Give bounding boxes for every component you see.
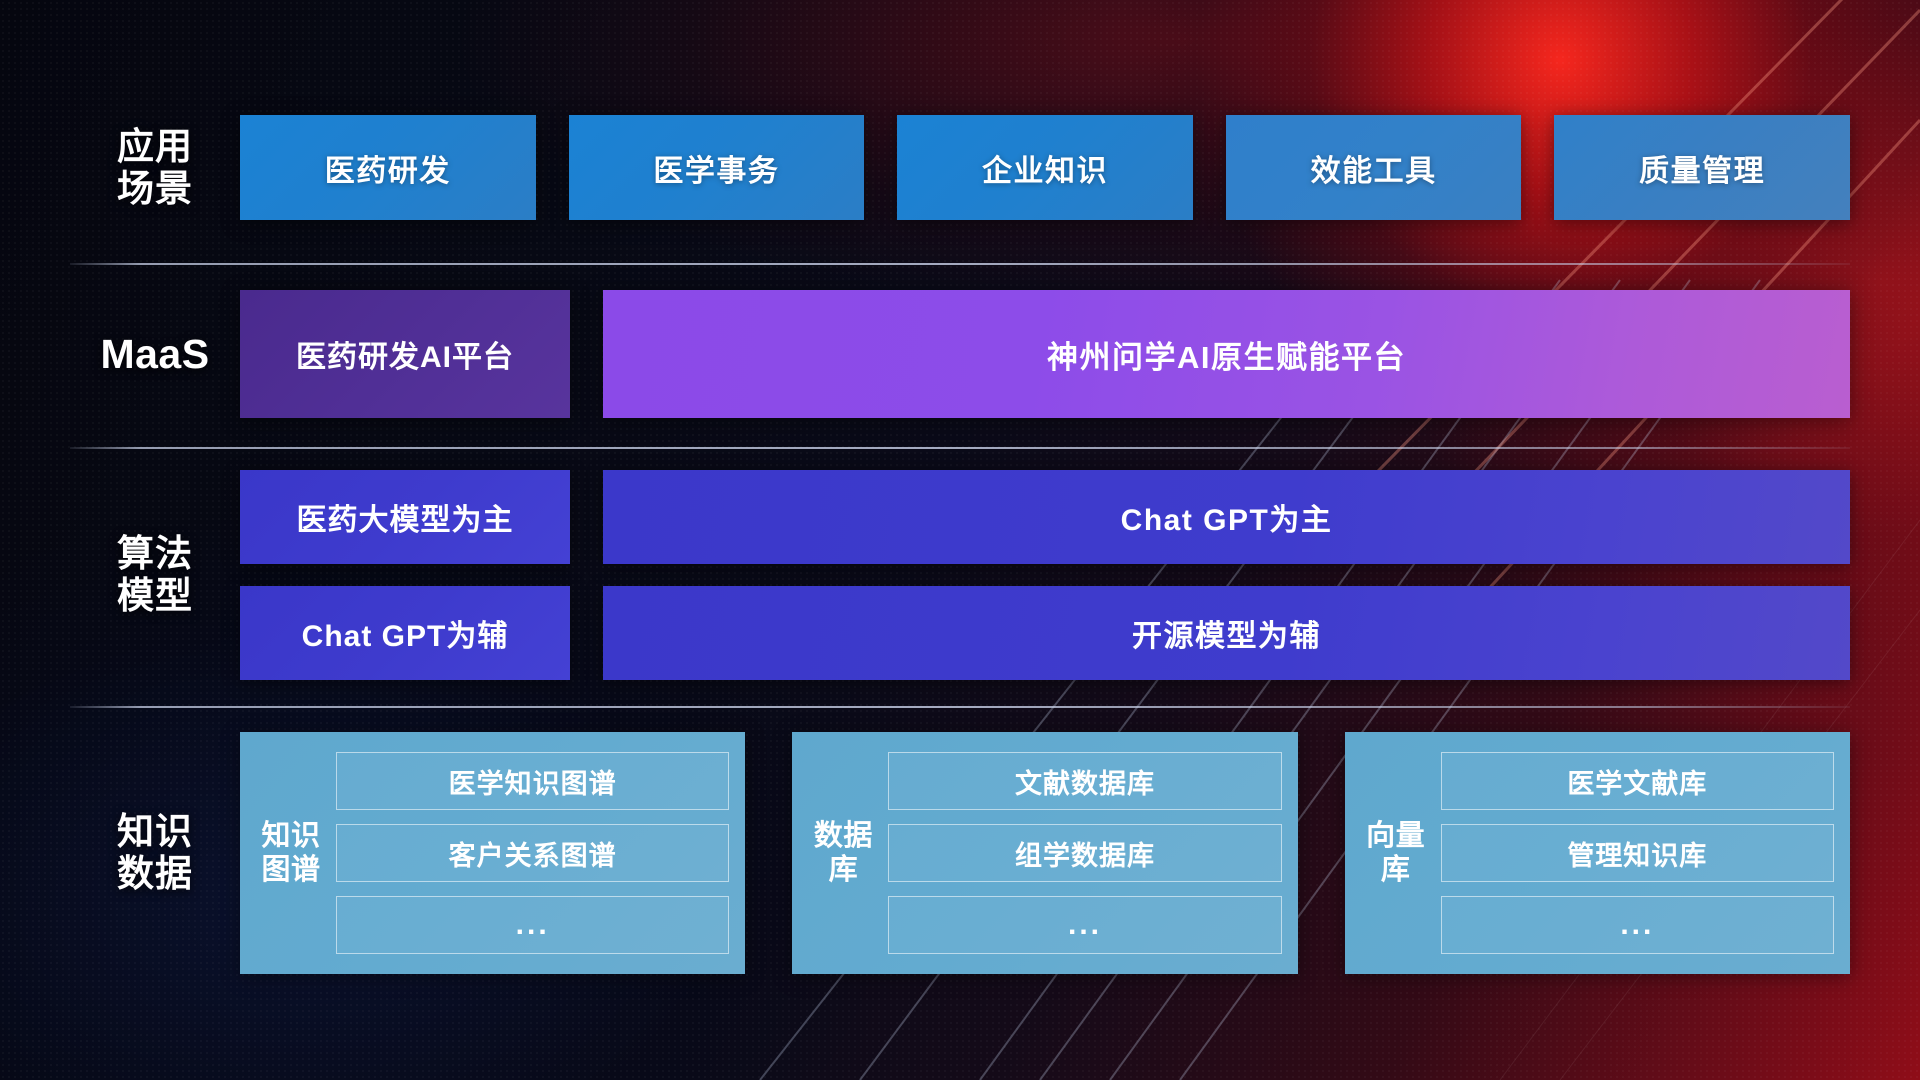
knowledge-panel-title-knowledge-graph: 知识图谱 bbox=[256, 819, 326, 887]
diagram-canvas: 应用 场景 医药研发 医学事务 企业知识 效能工具 质量管理 MaaS 医药研发… bbox=[0, 0, 1920, 1080]
algorithm-bar-stack: 医药大模型为主 Chat GPT为主 Chat GPT为辅 开源模型为辅 bbox=[240, 470, 1850, 680]
algo-block-chatgpt-primary[interactable]: Chat GPT为主 bbox=[603, 470, 1850, 564]
row-knowledge-data: 知识 数据 知识图谱 医学知识图谱 客户关系图谱 ... 数据库 bbox=[70, 732, 1850, 974]
app-tile-efficiency-tools[interactable]: 效能工具 bbox=[1226, 115, 1522, 220]
divider-application-maas bbox=[70, 263, 1850, 265]
row-label-application-line1: 应用 bbox=[70, 126, 240, 168]
row-label-algorithm-line2: 模型 bbox=[70, 575, 240, 617]
knowledge-panel-title-vector-store: 向量库 bbox=[1361, 819, 1431, 887]
knowledge-item-more-knowledge-graph[interactable]: ... bbox=[336, 896, 729, 954]
algo-block-pharma-llm-primary[interactable]: 医药大模型为主 bbox=[240, 470, 570, 564]
row-label-algorithm-line1: 算法 bbox=[70, 533, 240, 575]
maas-block-shenzhou-wenxue-platform[interactable]: 神州问学AI原生赋能平台 bbox=[603, 290, 1850, 418]
knowledge-item-literature-database[interactable]: 文献数据库 bbox=[888, 752, 1281, 810]
row-label-maas: MaaS bbox=[70, 331, 240, 377]
divider-maas-algorithm bbox=[70, 447, 1850, 449]
maas-block-pharma-ai-platform[interactable]: 医药研发AI平台 bbox=[240, 290, 570, 418]
knowledge-item-more-vector-store[interactable]: ... bbox=[1441, 896, 1834, 954]
app-tile-pharma-rnd[interactable]: 医药研发 bbox=[240, 115, 536, 220]
application-tile-list: 医药研发 医学事务 企业知识 效能工具 质量管理 bbox=[240, 115, 1850, 220]
row-label-knowledge: 知识 数据 bbox=[70, 811, 240, 895]
knowledge-panel-knowledge-graph[interactable]: 知识图谱 医学知识图谱 客户关系图谱 ... bbox=[240, 732, 745, 974]
knowledge-item-medical-knowledge-graph[interactable]: 医学知识图谱 bbox=[336, 752, 729, 810]
row-algorithm-models: 算法 模型 医药大模型为主 Chat GPT为主 Chat GPT为辅 开源模型… bbox=[70, 470, 1850, 680]
knowledge-panel-title-database: 数据库 bbox=[808, 819, 878, 887]
row-label-knowledge-line1: 知识 bbox=[70, 811, 240, 853]
knowledge-item-more-database[interactable]: ... bbox=[888, 896, 1281, 954]
knowledge-panel-vector-store[interactable]: 向量库 医学文献库 管理知识库 ... bbox=[1345, 732, 1850, 974]
app-tile-enterprise-knowledge[interactable]: 企业知识 bbox=[897, 115, 1193, 220]
row-application-scenarios: 应用 场景 医药研发 医学事务 企业知识 效能工具 质量管理 bbox=[70, 115, 1850, 220]
app-tile-medical-affairs[interactable]: 医学事务 bbox=[569, 115, 865, 220]
algo-block-opensource-secondary[interactable]: 开源模型为辅 bbox=[603, 586, 1850, 680]
knowledge-item-management-knowledge-store[interactable]: 管理知识库 bbox=[1441, 824, 1834, 882]
row-label-algorithm: 算法 模型 bbox=[70, 533, 240, 617]
knowledge-item-omics-database[interactable]: 组学数据库 bbox=[888, 824, 1281, 882]
app-tile-quality-management[interactable]: 质量管理 bbox=[1554, 115, 1850, 220]
divider-algorithm-knowledge bbox=[70, 706, 1850, 708]
algo-block-chatgpt-secondary[interactable]: Chat GPT为辅 bbox=[240, 586, 570, 680]
algorithm-row-secondary: Chat GPT为辅 开源模型为辅 bbox=[240, 586, 1850, 680]
knowledge-item-medical-literature-store[interactable]: 医学文献库 bbox=[1441, 752, 1834, 810]
row-label-knowledge-line2: 数据 bbox=[70, 853, 240, 895]
knowledge-item-customer-relation-graph[interactable]: 客户关系图谱 bbox=[336, 824, 729, 882]
knowledge-panel-database[interactable]: 数据库 文献数据库 组学数据库 ... bbox=[792, 732, 1297, 974]
row-label-application: 应用 场景 bbox=[70, 126, 240, 210]
row-label-application-line2: 场景 bbox=[70, 168, 240, 210]
knowledge-panel-list: 知识图谱 医学知识图谱 客户关系图谱 ... 数据库 文献数据库 组学数据库 .… bbox=[240, 732, 1850, 974]
algorithm-row-primary: 医药大模型为主 Chat GPT为主 bbox=[240, 470, 1850, 564]
row-maas: MaaS 医药研发AI平台 神州问学AI原生赋能平台 bbox=[70, 290, 1850, 418]
